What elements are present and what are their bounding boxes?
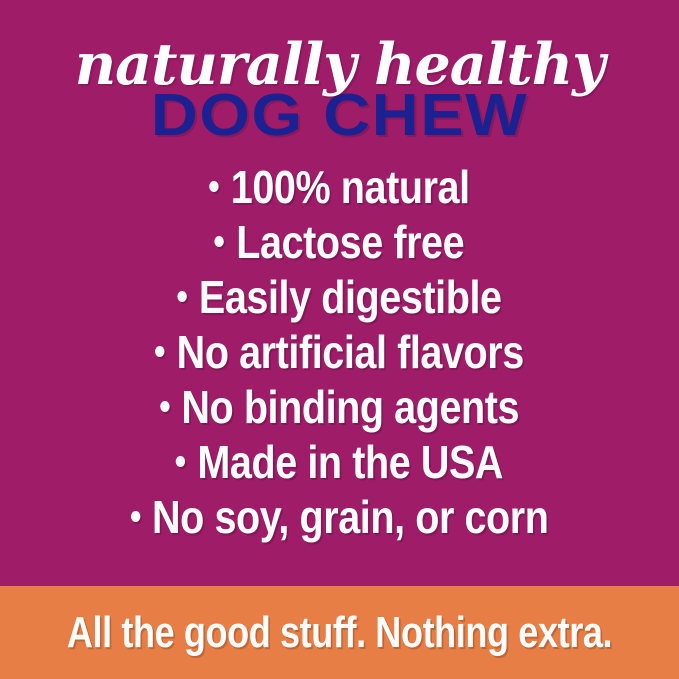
- list-item: Lactose free: [48, 215, 632, 270]
- feature-label: No soy, grain, or corn: [152, 491, 548, 543]
- feature-label: No binding agents: [181, 381, 519, 433]
- bullet-dot-icon: [155, 346, 164, 357]
- list-item: Made in the USA: [48, 435, 632, 490]
- list-item: 100% natural: [48, 160, 632, 215]
- tagline-text: All the good stuff. Nothing extra.: [67, 611, 612, 655]
- list-item: No artificial flavors: [48, 325, 632, 380]
- feature-label: Lactose free: [236, 216, 464, 268]
- list-item: No soy, grain, or corn: [48, 490, 632, 545]
- bullet-dot-icon: [215, 236, 224, 247]
- list-item: Easily digestible: [48, 270, 632, 325]
- list-item: No binding agents: [48, 380, 632, 435]
- bullet-dot-icon: [131, 511, 140, 522]
- header-block: naturally healthy DOG CHEW: [0, 0, 679, 155]
- tagline-banner: All the good stuff. Nothing extra.: [0, 586, 679, 679]
- feature-label: No artificial flavors: [177, 326, 524, 378]
- bullet-dot-icon: [177, 291, 186, 302]
- feature-label: Made in the USA: [197, 436, 503, 488]
- feature-label: 100% natural: [231, 161, 470, 213]
- feature-list: 100% natural Lactose free Easily digesti…: [0, 160, 679, 545]
- script-title: naturally healthy: [0, 36, 679, 93]
- product-feature-graphic: naturally healthy DOG CHEW 100% natural …: [0, 0, 679, 679]
- bullet-dot-icon: [176, 456, 185, 467]
- bullet-dot-icon: [160, 401, 169, 412]
- feature-label: Easily digestible: [199, 271, 502, 323]
- bullet-dot-icon: [209, 181, 218, 192]
